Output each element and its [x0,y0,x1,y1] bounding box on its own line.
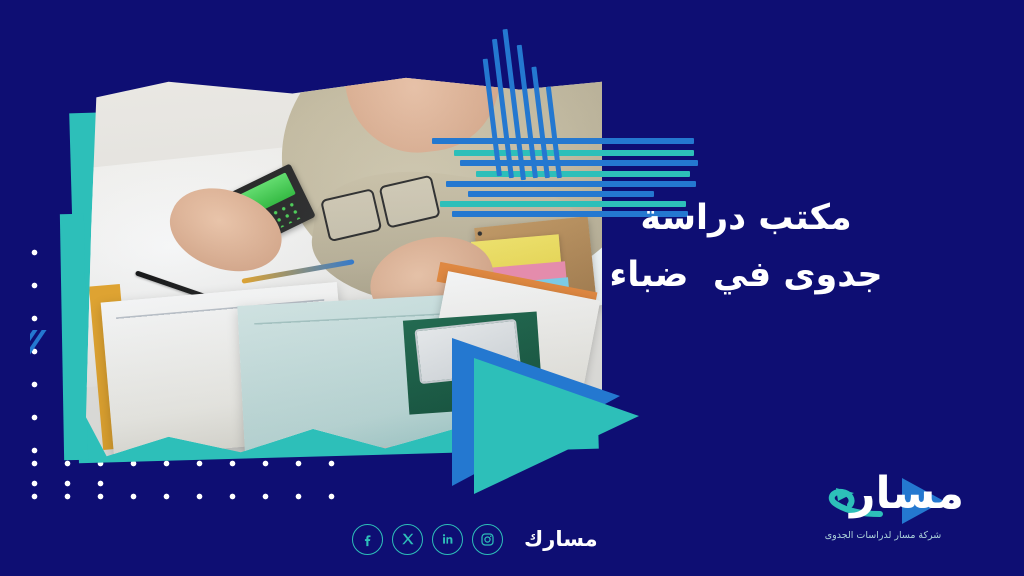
horizontal-stripe [454,150,694,156]
social-links-row: مسارك [352,518,598,560]
headline-line-1: مكتب دراسة [526,190,966,247]
social-handle-text: مسارك [524,527,598,551]
hatch-line [30,330,69,470]
hatch-line [30,330,51,470]
horizontal-stripe [432,138,694,144]
facebook-icon[interactable] [352,524,383,555]
logo-tagline: شركة مسار لدراسات الجدوى [784,530,982,541]
instagram-icon[interactable] [472,524,503,555]
headline: مكتب دراسة جدوى في ضباء [526,190,966,303]
hatch-line [30,330,60,470]
logo-wordmark: مسار [850,472,964,516]
horizontal-stripe [446,181,696,187]
linkedin-icon[interactable] [432,524,463,555]
x-twitter-icon[interactable] [392,524,423,555]
headline-line-2: جدوى في ضباء [526,247,966,304]
play-triangle-teal [474,358,639,494]
poster-canvas: مكتب دراسة جدوى في ضباء مسارك [0,0,1024,576]
company-logo: مسار شركة مسار لدراسات الجدوى [780,470,990,558]
